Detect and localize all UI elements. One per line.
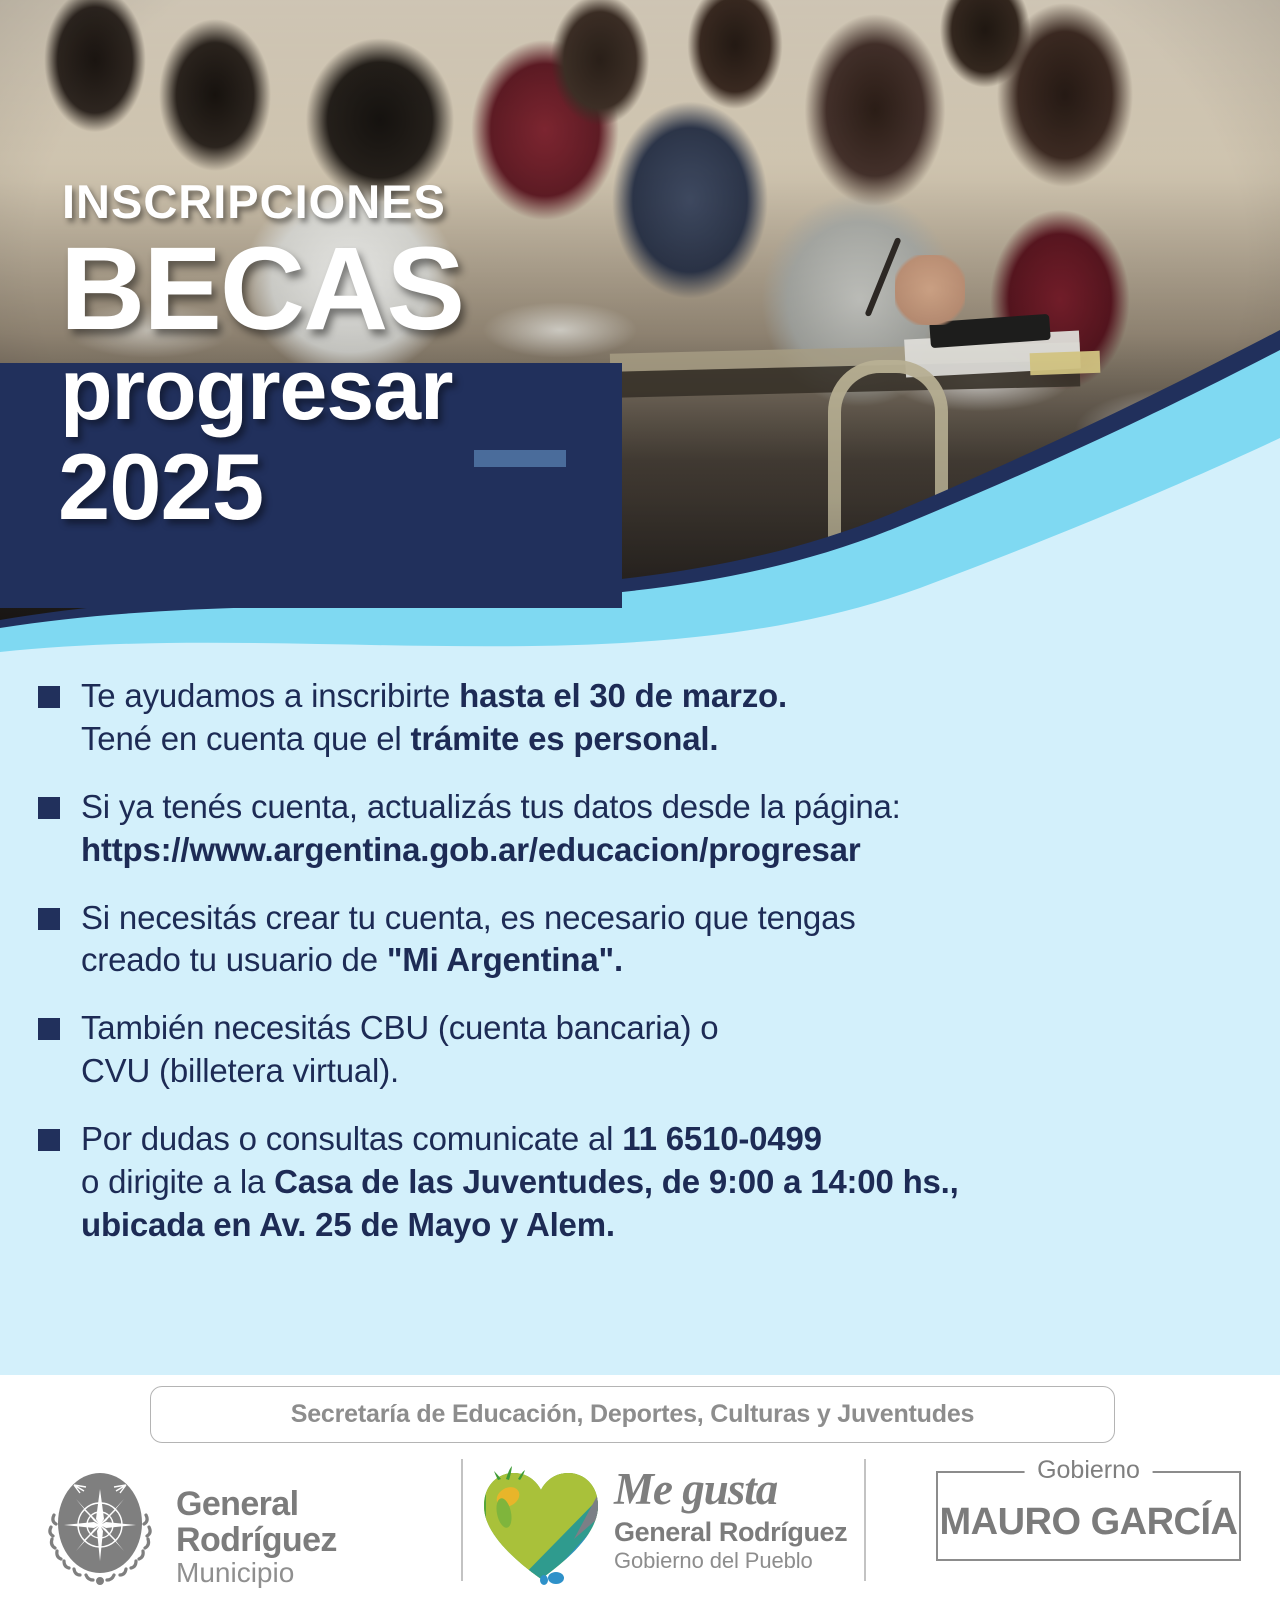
- municipality-name: General Rodríguez: [176, 1487, 436, 1558]
- bullet-line: Si ya tenés cuenta, actualizás tus datos…: [81, 786, 901, 829]
- footer-divider-1: [461, 1459, 463, 1581]
- bullet-emphasis: ubicada en Av. 25 de Mayo y Alem.: [81, 1206, 615, 1243]
- title-becas: BECAS: [0, 229, 660, 349]
- title-block: INSCRIPCIONES BECAS progresar 2025: [0, 178, 660, 534]
- bullet-emphasis: 11 6510-0499: [622, 1120, 821, 1157]
- bullet-square-icon: [38, 797, 60, 819]
- bullet-item: También necesitás CBU (cuenta bancaria) …: [38, 1007, 1240, 1093]
- bullet-item: Te ayudamos a inscribirte hasta el 30 de…: [38, 675, 1240, 761]
- bullet-text: Si necesitás crear tu cuenta, es necesar…: [81, 897, 856, 983]
- bullet-square-icon: [38, 686, 60, 708]
- secretariat-box: Secretaría de Educación, Deportes, Cultu…: [150, 1386, 1115, 1443]
- bullet-line: Si necesitás crear tu cuenta, es necesar…: [81, 897, 856, 940]
- bullet-list: Te ayudamos a inscribirte hasta el 30 de…: [0, 675, 1280, 1272]
- bullet-line: o dirigite a la Casa de las Juventudes, …: [81, 1161, 959, 1204]
- bullet-text: También necesitás CBU (cuenta bancaria) …: [81, 1007, 718, 1093]
- bullet-span: o dirigite a la: [81, 1163, 274, 1200]
- bullet-line: Te ayudamos a inscribirte hasta el 30 de…: [81, 675, 787, 718]
- megusta-text: Me gusta General Rodríguez Gobierno del …: [614, 1467, 847, 1573]
- bullet-text: Si ya tenés cuenta, actualizás tus datos…: [81, 786, 901, 872]
- bullet-span: Por dudas o consultas comunicate al: [81, 1120, 622, 1157]
- bullet-square-icon: [38, 1129, 60, 1151]
- bullet-item: Si ya tenés cuenta, actualizás tus datos…: [38, 786, 1240, 872]
- bullet-text: Por dudas o consultas comunicate al 11 6…: [81, 1118, 959, 1247]
- municipality-subtitle: Municipio: [176, 1558, 436, 1589]
- government-label: Gobierno: [1024, 1456, 1153, 1485]
- secretariat-label: Secretaría de Educación, Deportes, Cultu…: [291, 1400, 974, 1429]
- bullet-line: ubicada en Av. 25 de Mayo y Alem.: [81, 1204, 959, 1247]
- bullet-line: https://www.argentina.gob.ar/educacion/p…: [81, 829, 901, 872]
- bullet-emphasis: "Mi Argentina".: [387, 941, 623, 978]
- bullet-square-icon: [38, 1018, 60, 1040]
- footer-logos: General Rodríguez Municipio: [0, 1447, 1280, 1597]
- megusta-name: General Rodríguez: [614, 1517, 847, 1548]
- footer-divider-2: [864, 1459, 866, 1581]
- megusta-script: Me gusta: [614, 1467, 847, 1512]
- bullet-span: Tené en cuenta que el: [81, 720, 411, 757]
- bullet-line: Tené en cuenta que el trámite es persona…: [81, 718, 787, 761]
- bullet-line: creado tu usuario de "Mi Argentina".: [81, 939, 856, 982]
- bullet-span: También necesitás CBU (cuenta bancaria) …: [81, 1009, 718, 1046]
- municipal-crest-icon: [36, 1463, 164, 1591]
- bullet-emphasis: Casa de las Juventudes, de 9:00 a 14:00 …: [274, 1163, 959, 1200]
- bullet-line: También necesitás CBU (cuenta bancaria) …: [81, 1007, 718, 1050]
- municipality-text: General Rodríguez Municipio: [176, 1487, 436, 1589]
- progresar-underline: [474, 450, 566, 467]
- government-name: MAURO GARCÍA: [938, 1501, 1239, 1544]
- poster-root: INSCRIPCIONES BECAS progresar 2025 Te ay…: [0, 0, 1280, 1600]
- government-logo: Gobierno MAURO GARCÍA: [936, 1471, 1241, 1561]
- title-progresar: progresar: [0, 345, 660, 435]
- title-kicker: INSCRIPCIONES: [0, 178, 660, 225]
- bullet-emphasis: hasta el 30 de marzo.: [459, 677, 787, 714]
- bullet-item: Por dudas o consultas comunicate al 11 6…: [38, 1118, 1240, 1247]
- bullet-span: Si ya tenés cuenta, actualizás tus datos…: [81, 788, 901, 825]
- bullet-emphasis: https://www.argentina.gob.ar/educacion/p…: [81, 831, 860, 868]
- megusta-logo: Me gusta General Rodríguez Gobierno del …: [478, 1461, 848, 1591]
- bullet-item: Si necesitás crear tu cuenta, es necesar…: [38, 897, 1240, 983]
- municipality-logo: General Rodríguez Municipio: [36, 1463, 436, 1583]
- bullet-span: CVU (billetera virtual).: [81, 1052, 399, 1089]
- bullet-square-icon: [38, 908, 60, 930]
- bullet-span: Si necesitás crear tu cuenta, es necesar…: [81, 899, 856, 936]
- bullet-line: Por dudas o consultas comunicate al 11 6…: [81, 1118, 959, 1161]
- footer: Secretaría de Educación, Deportes, Cultu…: [0, 1375, 1280, 1600]
- megusta-subtitle: Gobierno del Pueblo: [614, 1548, 847, 1573]
- bullet-span: creado tu usuario de: [81, 941, 387, 978]
- bullet-emphasis: trámite es personal.: [411, 720, 719, 757]
- bullet-text: Te ayudamos a inscribirte hasta el 30 de…: [81, 675, 787, 761]
- heart-logo-icon: [478, 1465, 604, 1587]
- bullet-span: Te ayudamos a inscribirte: [81, 677, 459, 714]
- bullet-line: CVU (billetera virtual).: [81, 1050, 718, 1093]
